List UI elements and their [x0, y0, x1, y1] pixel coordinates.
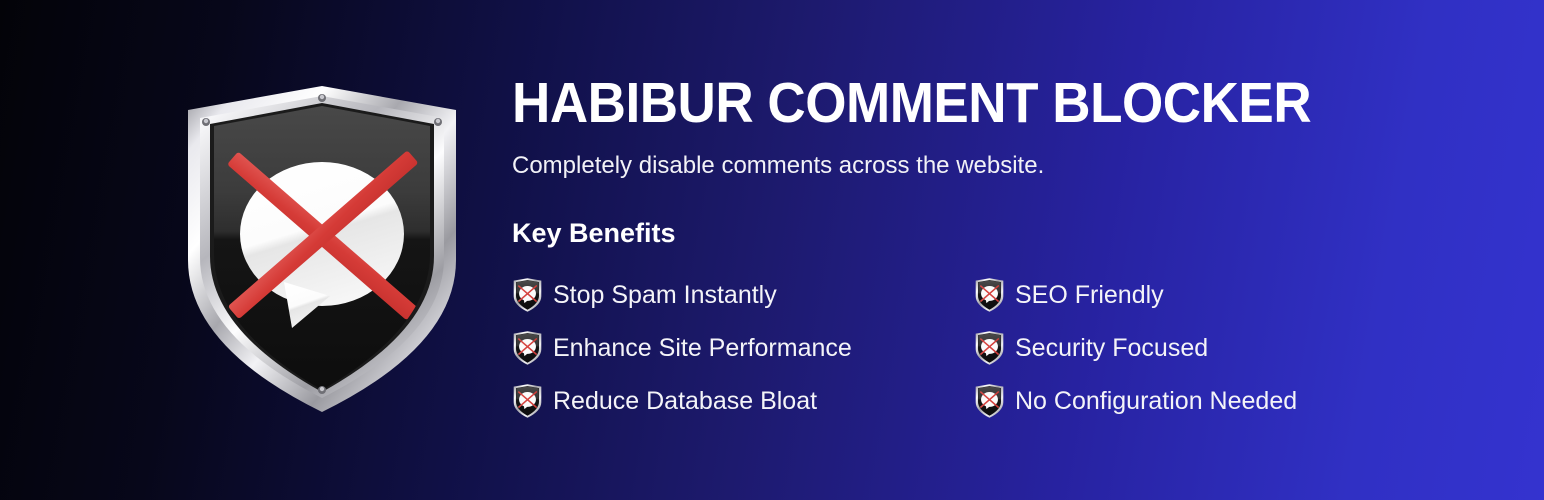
shield-blocked-comment-icon	[512, 278, 543, 312]
subtitle: Completely disable comments across the w…	[512, 151, 1044, 181]
benefits-column-left: Stop Spam Instantly Enhance Site Perform…	[512, 268, 852, 427]
benefits-column-right: SEO Friendly Security Focused	[974, 268, 1297, 427]
list-item: Security Focused	[974, 321, 1297, 374]
shield-blocked-comment-icon	[974, 331, 1005, 365]
list-item: Reduce Database Bloat	[512, 374, 852, 427]
shield-blocked-comment-icon	[512, 331, 543, 365]
list-item-label: Enhance Site Performance	[553, 334, 852, 362]
list-item: Enhance Site Performance	[512, 321, 852, 374]
shield-blocked-comment-icon	[512, 384, 543, 418]
shield-blocked-comment-icon	[974, 384, 1005, 418]
list-item: SEO Friendly	[974, 268, 1297, 321]
list-item-label: Stop Spam Instantly	[553, 281, 777, 309]
list-item: Stop Spam Instantly	[512, 268, 852, 321]
list-item-label: Security Focused	[1015, 334, 1208, 362]
shield-blocked-comment-icon	[974, 278, 1005, 312]
page-title: HABIBUR COMMENT BLOCKER	[512, 74, 1311, 132]
list-item-label: SEO Friendly	[1015, 281, 1164, 309]
banner-content: HABIBUR COMMENT BLOCKER Completely disab…	[512, 0, 1544, 500]
comment-blocker-shield-logo	[180, 84, 464, 414]
list-item-label: Reduce Database Bloat	[553, 387, 817, 415]
promo-banner: HABIBUR COMMENT BLOCKER Completely disab…	[0, 0, 1544, 500]
list-item-label: No Configuration Needed	[1015, 387, 1297, 415]
benefits-heading: Key Benefits	[512, 216, 676, 250]
list-item: No Configuration Needed	[974, 374, 1297, 427]
